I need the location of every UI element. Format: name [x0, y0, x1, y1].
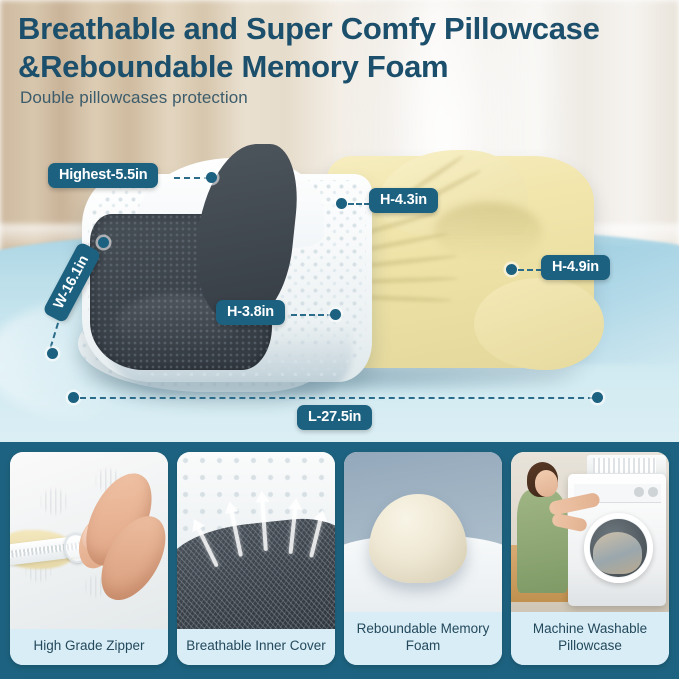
leader-dot-length-left: [68, 392, 79, 403]
leader-line-height-38: [291, 314, 333, 316]
title-line-1: Breathable and Super Comfy Pillowcase: [18, 10, 668, 48]
feature-caption-zipper: High Grade Zipper: [10, 629, 168, 665]
measurement-badge-length: L-27.5in: [297, 405, 372, 430]
feature-card-list: High Grade Zipper Breathable Inner Cover: [10, 452, 669, 665]
feature-card-memory-foam[interactable]: Reboundable Memory Foam: [344, 452, 502, 665]
leader-dot-length-right: [592, 392, 603, 403]
foam-dip-shadow: [434, 202, 542, 260]
feature-caption-inner-cover: Breathable Inner Cover: [177, 629, 335, 665]
feature-card-machine-washable[interactable]: Machine Washable Pillowcase: [511, 452, 669, 665]
washing-machine-photo: [511, 452, 669, 612]
control-knob: [634, 487, 643, 497]
laundry-inside-drum: [593, 532, 642, 574]
mesh-airflow-photo: [177, 452, 335, 629]
leader-line-highest: [174, 177, 210, 179]
leader-line-height-49: [518, 269, 542, 271]
feature-card-zipper[interactable]: High Grade Zipper: [10, 452, 168, 665]
leader-line-length: [80, 397, 594, 399]
page-title: Breathable and Super Comfy Pillowcase &R…: [18, 10, 668, 87]
feature-caption-memory-foam: Reboundable Memory Foam: [344, 612, 502, 665]
leader-dot-height-38: [330, 309, 341, 320]
leader-dot-highest: [206, 172, 217, 183]
vent-grille: [593, 458, 656, 472]
infographic-page: Breathable and Super Comfy Pillowcase &R…: [0, 0, 679, 679]
pillow-illustration: [78, 150, 598, 400]
measurement-badge-highest: Highest-5.5in: [48, 163, 158, 188]
zipper-photo: [10, 452, 168, 629]
control-knob: [648, 487, 657, 497]
foam-dome-photo: [344, 452, 502, 612]
leader-line-height-43: [348, 203, 370, 205]
leader-dot-width-bottom: [47, 348, 58, 359]
title-line-2: &Reboundable Memory Foam: [18, 48, 668, 86]
feature-card-inner-cover[interactable]: Breathable Inner Cover: [177, 452, 335, 665]
measurement-badge-height-38: H-3.8in: [216, 300, 285, 325]
page-subtitle: Double pillowcases protection: [20, 88, 248, 108]
leader-dot-height-49: [506, 264, 517, 275]
feature-caption-machine-washable: Machine Washable Pillowcase: [511, 612, 669, 665]
measurement-badge-height-43: H-4.3in: [369, 188, 438, 213]
foam-lobe: [474, 278, 604, 370]
leader-dot-height-43: [336, 198, 347, 209]
measurement-badge-height-49: H-4.9in: [541, 255, 610, 280]
woman-face: [535, 470, 559, 497]
hero-product-photo: Breathable and Super Comfy Pillowcase &R…: [0, 0, 679, 442]
leader-dot-width-top: [98, 237, 109, 248]
